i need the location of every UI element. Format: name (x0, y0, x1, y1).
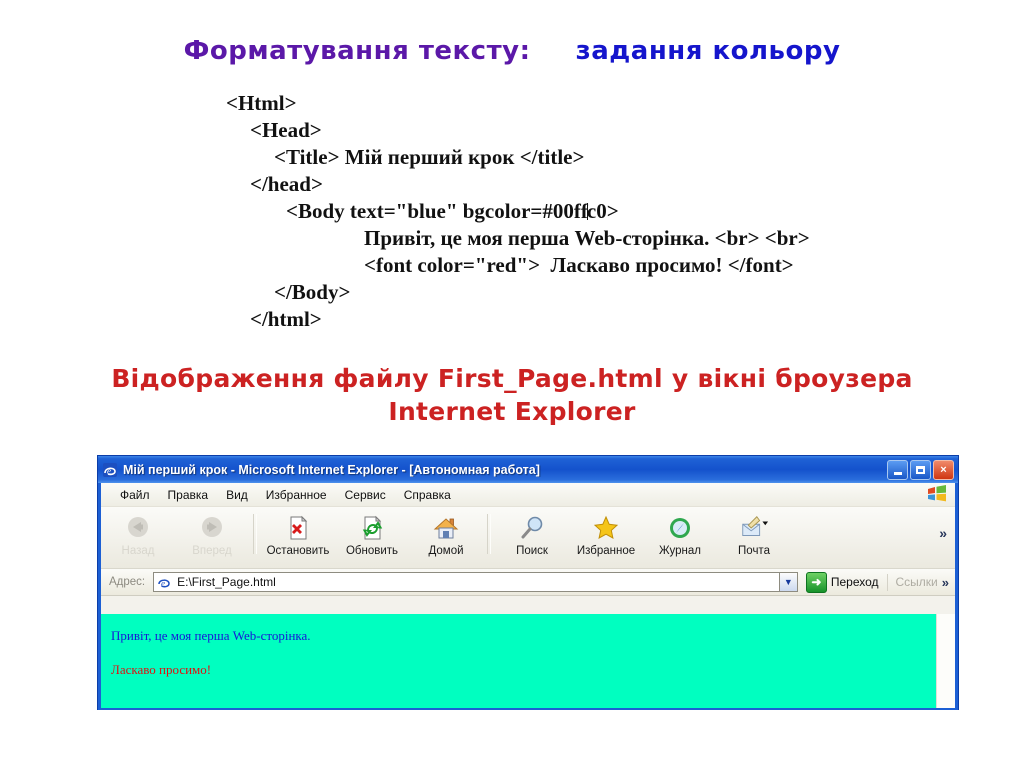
code-body-open-b: c0> (587, 199, 619, 223)
menu-bar: Файл Правка Вид Избранное Сервис Справка (101, 483, 955, 507)
toolbar-label-back: Назад (122, 545, 155, 557)
minimize-icon (894, 472, 902, 475)
toolbar-button-stop[interactable]: Остановить (261, 510, 335, 557)
address-value: E:\First_Page.html (177, 575, 276, 589)
slide-title: Форматування тексту: задання кольору (0, 36, 1024, 66)
address-dropdown-button[interactable]: ▼ (779, 572, 798, 592)
search-magnifier-icon (517, 513, 547, 543)
toolbar-button-home[interactable]: Домой (409, 510, 483, 557)
maximize-icon (916, 466, 925, 474)
toolbar-button-refresh[interactable]: Обновить (335, 510, 409, 557)
toolbar-label-stop: Остановить (267, 545, 330, 557)
code-line-greeting: Привіт, це моя перша Web-сторінка. <br> … (226, 225, 926, 252)
toolbar-label-refresh: Обновить (346, 545, 398, 557)
refresh-page-icon (357, 513, 387, 543)
subtitle-line-2: Internet Explorer (0, 395, 1024, 428)
stop-page-icon (283, 513, 313, 543)
toolbar-separator-2 (487, 514, 491, 554)
links-separator (887, 574, 888, 591)
go-button[interactable]: ➜ Переход (806, 572, 879, 593)
address-overflow-chevron-icon[interactable]: » (942, 575, 949, 590)
address-bar: Адрес: e E:\First_Page.html ▼ ➜ Переход … (101, 569, 955, 596)
minimize-button[interactable] (887, 460, 908, 480)
browser-client-area: Файл Правка Вид Избранное Сервис Справка (101, 483, 955, 708)
window-controls: × (887, 460, 954, 480)
svg-text:e: e (107, 466, 111, 476)
history-compass-icon (665, 513, 695, 543)
code-body-open-a: <Body text="blue" bgcolor=#00ff (286, 199, 588, 223)
maximize-button[interactable] (910, 460, 931, 480)
mail-icon (739, 513, 769, 543)
windows-flag-icon (927, 485, 947, 503)
slide-title-part-a: Форматування тексту: (184, 36, 531, 66)
window-titlebar[interactable]: e Мій перший крок - Microsoft Internet E… (98, 456, 958, 483)
browser-toolbar: Назад Вперед (101, 507, 955, 569)
toolbar-label-search: Поиск (516, 545, 548, 557)
chevron-down-icon: ▼ (784, 577, 793, 587)
toolbar-button-search[interactable]: Поиск (495, 510, 569, 557)
toolbar-label-history: Журнал (659, 545, 701, 557)
go-arrow-icon: ➜ (806, 572, 827, 593)
toolbar-button-favorites[interactable]: Избранное (569, 510, 643, 557)
toolbar-button-history[interactable]: Журнал (643, 510, 717, 557)
window-title-text: Мій перший крок - Microsoft Internet Exp… (123, 463, 887, 477)
toolbar-overflow-chevron-icon[interactable]: » (939, 525, 947, 541)
toolbar-label-favorites: Избранное (577, 545, 635, 557)
ie-logo-icon: e (102, 462, 118, 478)
code-line-body-close: </Body> (226, 279, 926, 306)
code-line-head-open: <Head> (226, 117, 926, 144)
toolbar-button-mail[interactable]: Почта (717, 510, 791, 557)
menu-item-tools[interactable]: Сервис (336, 486, 395, 504)
page-text-greeting: Привіт, це моя перша Web-сторінка. (111, 628, 937, 644)
toolbar-label-forward: Вперед (192, 545, 232, 557)
html-code-listing: <Html> <Head> <Title> Мій перший крок </… (226, 90, 926, 333)
back-arrow-icon (123, 513, 153, 543)
links-button[interactable]: Ссылки (896, 575, 938, 589)
toolbar-button-forward[interactable]: Вперед (175, 510, 249, 557)
subtitle-line-1: Відображення файлу First_Page.html у вік… (0, 362, 1024, 395)
ie-page-icon: e (157, 575, 172, 590)
address-label: Адрес: (109, 576, 145, 588)
address-input[interactable]: e E:\First_Page.html (153, 572, 779, 592)
menu-item-file[interactable]: Файл (111, 486, 159, 504)
page-text-welcome: Ласкаво просимо! (111, 662, 937, 678)
toolbar-button-back[interactable]: Назад (101, 510, 175, 557)
code-line-html-close: </html> (226, 306, 926, 333)
toolbar-separator-1 (253, 514, 257, 554)
code-line-title: <Title> Мій перший крок </title> (226, 144, 926, 171)
slide-subtitle: Відображення файлу First_Page.html у вік… (0, 362, 1024, 428)
close-button[interactable]: × (933, 460, 954, 480)
code-line-html-open: <Html> (226, 90, 926, 117)
vertical-scrollbar[interactable] (936, 614, 955, 708)
code-line-font: <font color="red"> Ласкаво просимо! </fo… (226, 252, 926, 279)
home-icon (431, 513, 461, 543)
code-line-head-close: </head> (226, 171, 926, 198)
slide-title-part-b: задання кольору (576, 36, 841, 66)
svg-text:e: e (161, 578, 165, 588)
menu-item-edit[interactable]: Правка (159, 486, 218, 504)
page-viewport: Привіт, це моя перша Web-сторінка. Ласка… (101, 614, 937, 708)
forward-arrow-icon (197, 513, 227, 543)
toolbar-label-mail: Почта (738, 545, 770, 557)
code-line-body-open: <Body text="blue" bgcolor=#00ffc0> (226, 198, 926, 225)
menu-item-help[interactable]: Справка (395, 486, 460, 504)
go-label: Переход (831, 575, 879, 589)
menu-item-view[interactable]: Вид (217, 486, 257, 504)
menu-item-favorites[interactable]: Избранное (257, 486, 336, 504)
star-icon (591, 513, 621, 543)
toolbar-label-home: Домой (428, 545, 463, 557)
internet-explorer-window: e Мій перший крок - Microsoft Internet E… (97, 455, 959, 710)
